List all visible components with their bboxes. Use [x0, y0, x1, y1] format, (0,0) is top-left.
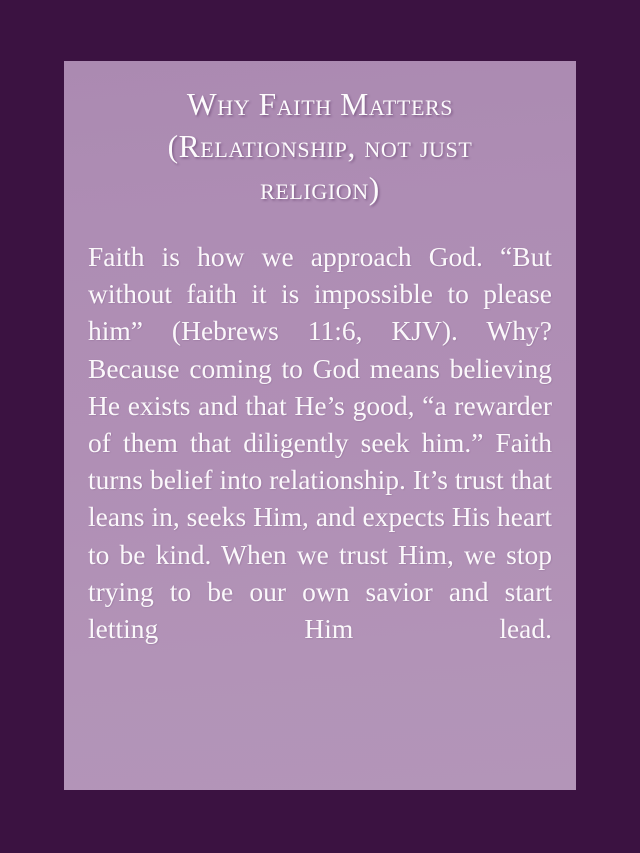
body-paragraph: Faith is how we approach God. “But witho…	[88, 238, 552, 684]
quote-canvas: Why Faith Matters (Relationship, not jus…	[0, 0, 640, 853]
page-title: Why Faith Matters (Relationship, not jus…	[88, 84, 552, 210]
quote-card: Why Faith Matters (Relationship, not jus…	[64, 61, 576, 790]
body-block: Faith is how we approach God. “But witho…	[88, 238, 552, 684]
